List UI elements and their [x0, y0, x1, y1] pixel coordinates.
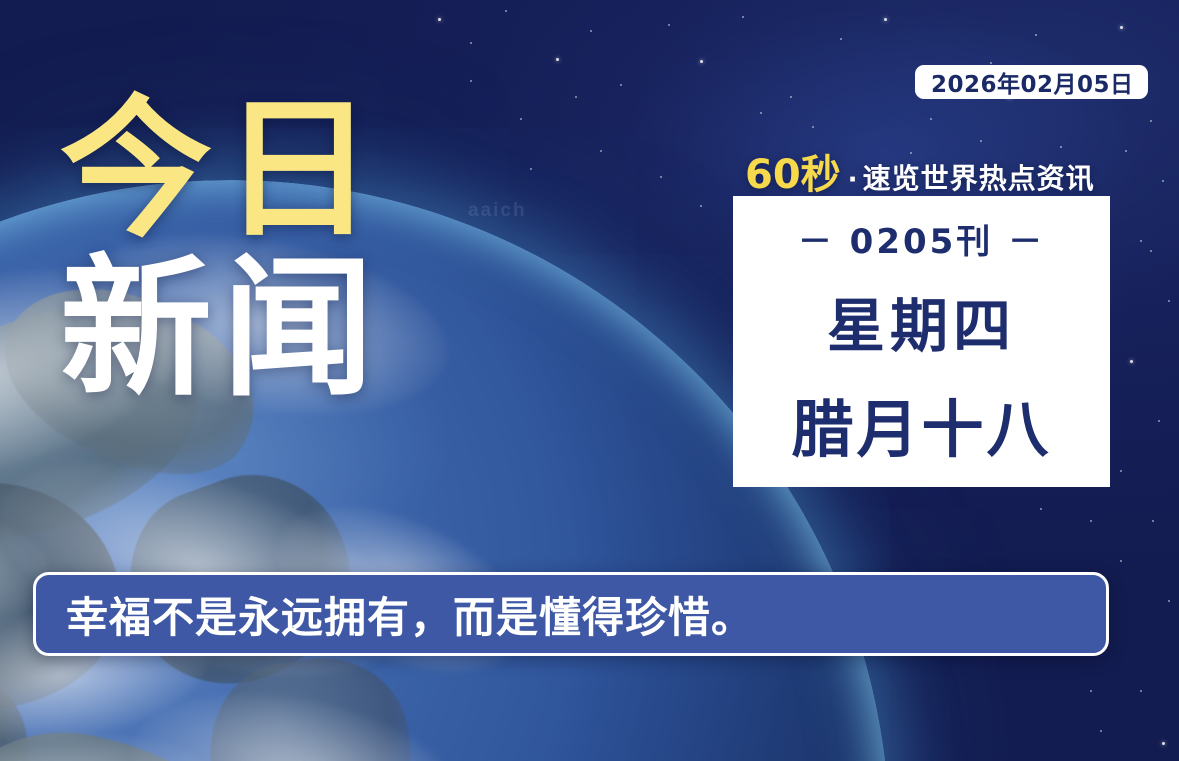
card-lunar-date: 腊月十八 — [791, 379, 1051, 469]
poster-canvas: aaich 今日 新闻 2026年02月05日 60秒 · 速览世界热点资讯 －… — [0, 0, 1179, 761]
title-line-today: 今日 — [60, 96, 480, 245]
title-line-news: 新闻 — [60, 255, 480, 404]
page-title: 今日 新闻 — [60, 96, 480, 404]
quote-banner: 幸福不是永远拥有，而是懂得珍惜。 — [33, 572, 1109, 656]
quote-text: 幸福不是永远拥有，而是懂得珍惜。 — [66, 584, 754, 645]
tagline-phrase: 速览世界热点资讯 — [863, 157, 1095, 197]
tagline: 60秒 · 速览世界热点资讯 — [745, 142, 1095, 200]
tagline-seconds: 60秒 — [745, 142, 841, 200]
date-card: － 0205刊 － 星期四 腊月十八 — [733, 196, 1110, 487]
tagline-separator: · — [848, 165, 858, 195]
date-badge: 2026年02月05日 — [915, 65, 1148, 99]
card-weekday: 星期四 — [827, 279, 1016, 363]
card-issue-number: － 0205刊 － — [798, 214, 1045, 263]
